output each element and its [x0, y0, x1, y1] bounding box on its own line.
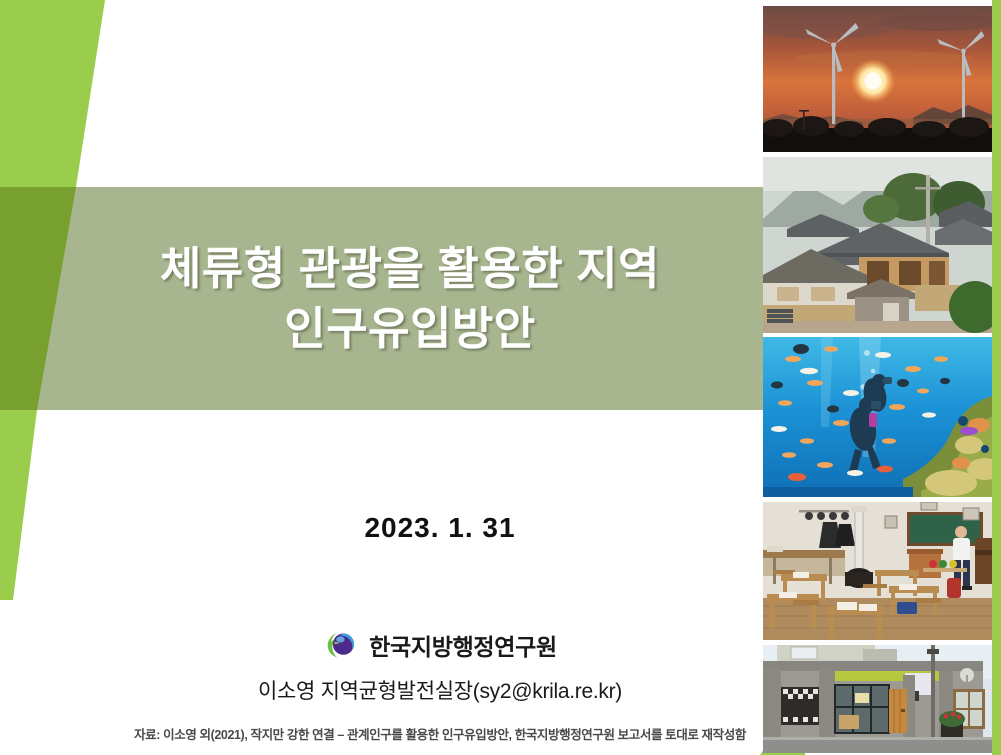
photo-column [763, 0, 1001, 755]
source-note: 자료: 이소영 외(2021), 작지만 강한 연결 – 관계인구를 활용한 인… [0, 724, 880, 743]
photo-hanok-village [763, 157, 995, 333]
decoration-wedge-top [0, 0, 105, 187]
author-contact-line: 이소영 지역균형발전실장(sy2@krila.re.kr) [0, 675, 880, 705]
page-title-line-1: 체류형 관광을 활용한 지역 [160, 239, 660, 298]
photo-old-classroom [763, 502, 995, 640]
photo-wind-turbines-sunset [763, 6, 995, 152]
decoration-wedge-bottom [0, 410, 37, 600]
page-title-line-2: 인구유입방안 [284, 299, 535, 358]
photo-scuba-diving-reef [763, 337, 995, 497]
krila-logo-icon [323, 628, 357, 662]
photo-renovated-storefront [763, 645, 995, 753]
organization-name: 한국지방행정연구원 [369, 628, 557, 662]
right-edge-accent-strip [992, 0, 1001, 755]
page-title: 체류형 관광을 활용한 지역 인구유입방안 [70, 187, 750, 410]
presentation-date: 2023. 1. 31 [0, 512, 880, 544]
organization-row: 한국지방행정연구원 [0, 628, 880, 662]
presentation-title-slide: 체류형 관광을 활용한 지역 인구유입방안 2023. 1. 31 한국지방행정… [0, 0, 1001, 755]
